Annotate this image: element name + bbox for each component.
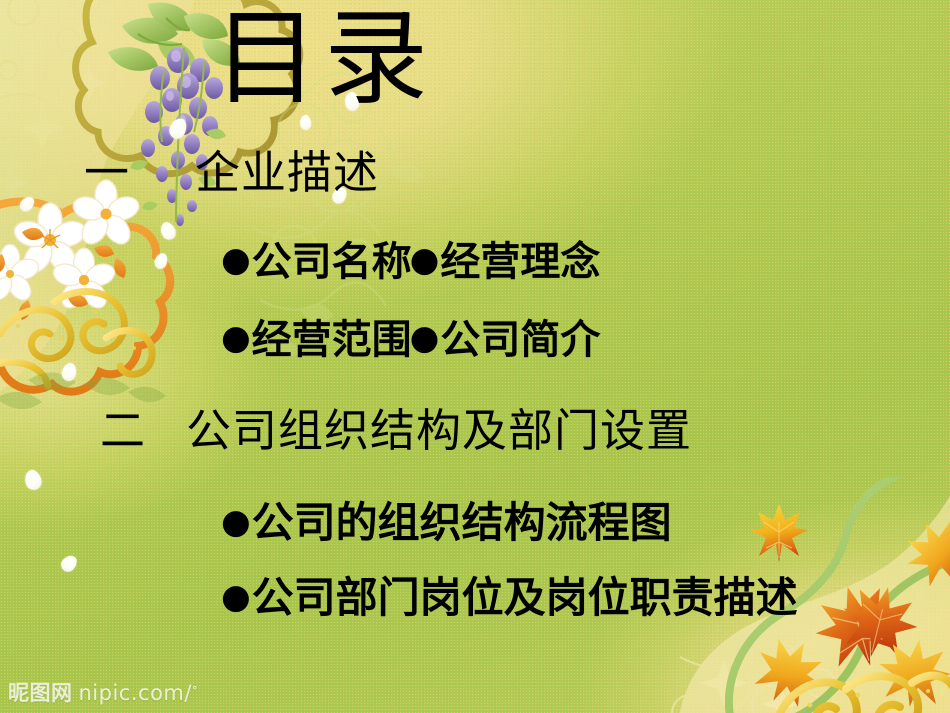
section-2-heading: 二公司组织结构及部门设置: [100, 406, 692, 456]
bullet-label-company-name: 公司名称: [252, 240, 410, 284]
bullet-dot-icon: ●: [410, 318, 440, 358]
slide-title: 目录: [214, 2, 434, 114]
section-2-bullet-2: ●公司部门岗位及岗位职责描述: [221, 575, 798, 621]
section-1-number: 一: [84, 146, 131, 199]
section-1-bullet-row-2: ●经营范围●公司简介: [221, 318, 600, 362]
bullet-dot-icon: ●: [221, 502, 251, 542]
section-2-title: 公司组织结构及部门设置: [186, 404, 692, 457]
bullet-dot-icon: ●: [221, 318, 251, 358]
section-2-number: 二: [100, 404, 146, 457]
section-1-bullet-row-1: ●公司名称●经营理念: [221, 240, 600, 284]
bullet-label-business-philosophy: 经营理念: [440, 239, 600, 285]
watermark-url: nipic.com/: [79, 681, 192, 705]
bullet-label-business-scope: 经营范围: [252, 318, 410, 362]
section-1-heading: 一企业描述: [84, 148, 379, 198]
bullet-label-company-profile: 公司简介: [440, 317, 600, 363]
site-watermark: 昵图网nipic.com/°: [8, 677, 198, 707]
section-1-title: 企业描述: [195, 146, 379, 199]
section-2-bullet-1: ●公司的组织结构流程图: [221, 500, 672, 546]
bullet-dot-icon: ●: [221, 240, 251, 280]
bullet-label-org-chart: 公司的组织结构流程图: [252, 498, 672, 547]
watermark-degree-mark: °: [192, 684, 198, 697]
bullet-label-job-duties: 公司部门岗位及岗位职责描述: [252, 573, 798, 622]
bullet-dot-icon: ●: [221, 577, 251, 617]
bullet-dot-icon: ●: [410, 240, 440, 280]
watermark-cn-text: 昵图网: [8, 681, 73, 705]
presentation-slide: 目录 一企业描述 ●公司名称●经营理念 ●经营范围●公司简介 二公司组织结构及部…: [0, 0, 950, 713]
